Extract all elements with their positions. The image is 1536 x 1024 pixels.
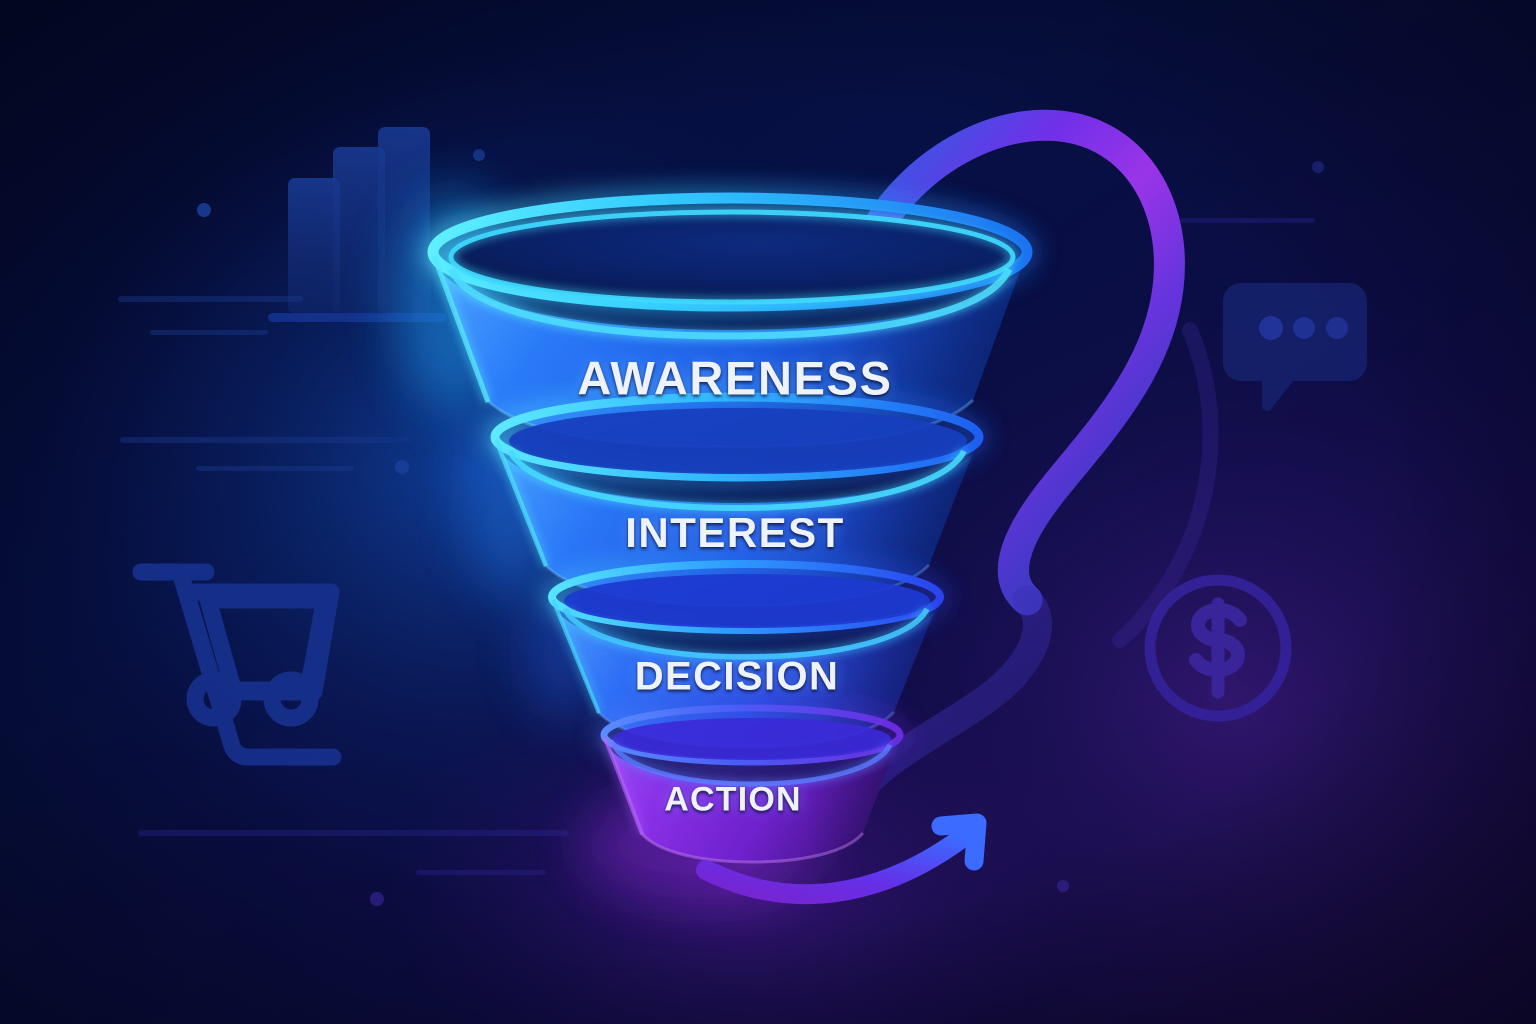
funnel-infographic: AWARENESS INTEREST DECISION ACTION xyxy=(0,0,1536,1024)
growth-arrow-layer xyxy=(0,0,1536,1024)
growth-arrow-shaft xyxy=(706,838,962,894)
growth-arrow-icon xyxy=(706,823,977,894)
